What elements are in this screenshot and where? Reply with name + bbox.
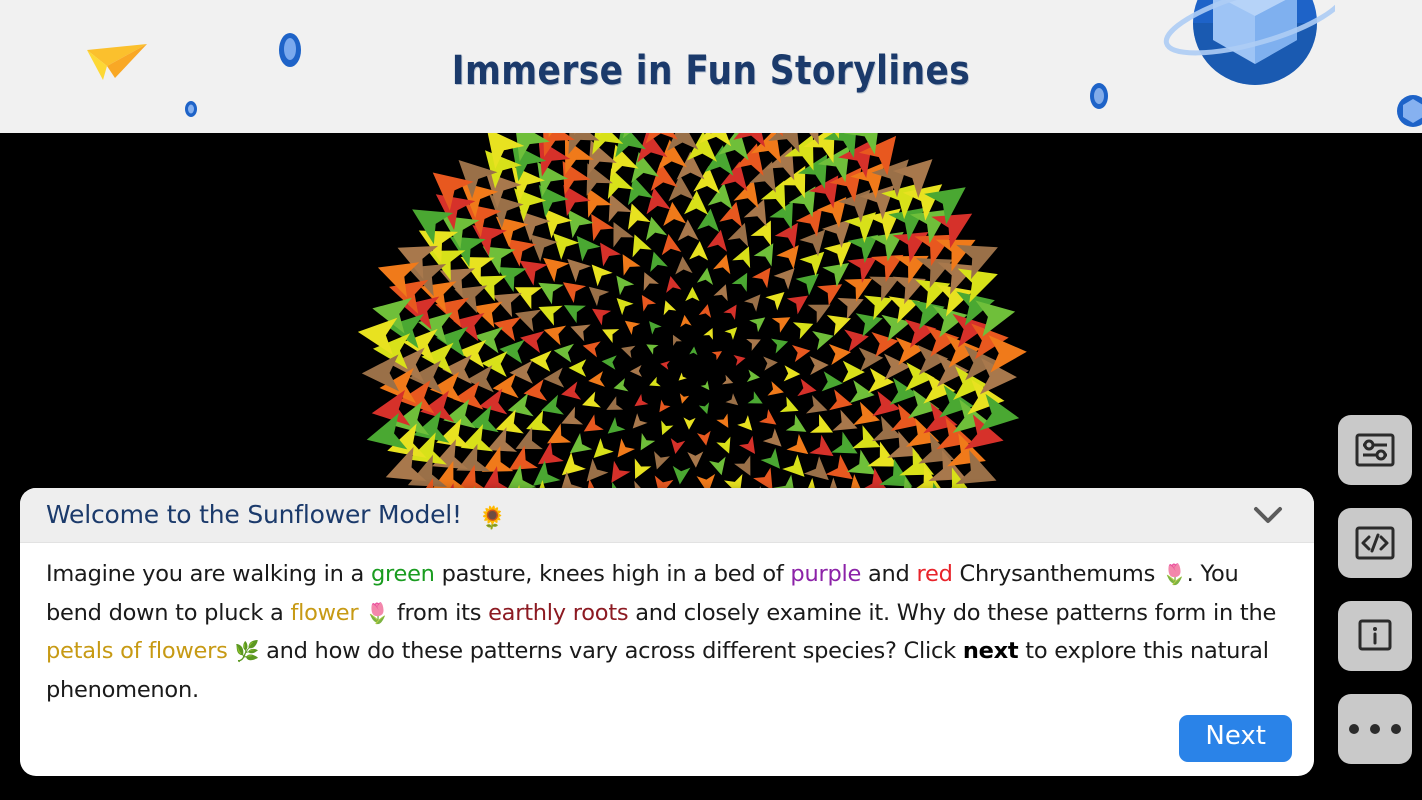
pattern-marker	[509, 276, 542, 309]
pattern-marker	[774, 261, 802, 289]
pattern-marker	[637, 269, 659, 291]
story-segment-1: green	[371, 561, 435, 587]
pattern-marker	[699, 303, 714, 318]
story-segment-13: earthly roots	[488, 600, 628, 626]
pattern-marker	[782, 454, 812, 484]
pattern-marker	[699, 402, 712, 415]
story-segment-2: pasture, knees high in a bed of	[435, 561, 791, 587]
pattern-marker	[560, 251, 591, 282]
story-panel-header: Welcome to the Sunflower Model! 🌻	[20, 488, 1314, 543]
pattern-marker	[767, 381, 785, 399]
pattern-marker	[853, 402, 883, 432]
pattern-marker	[697, 267, 715, 285]
pattern-marker	[763, 355, 778, 370]
pattern-marker	[739, 436, 762, 459]
pattern-marker	[627, 458, 651, 482]
pattern-marker	[716, 437, 736, 457]
pattern-marker	[647, 377, 661, 391]
pattern-marker	[568, 359, 586, 377]
info-icon	[1354, 618, 1396, 654]
pattern-marker	[554, 452, 585, 483]
pattern-marker	[619, 342, 635, 358]
pattern-marker	[655, 400, 671, 416]
pattern-marker	[988, 333, 1028, 373]
pattern-marker	[511, 302, 541, 332]
pattern-marker	[612, 378, 629, 395]
pattern-marker	[683, 417, 696, 430]
pattern-marker	[771, 334, 790, 353]
story-panel-title-text: Welcome to the Sunflower Model!	[46, 500, 462, 529]
pattern-marker	[631, 394, 649, 412]
pattern-marker	[620, 200, 650, 230]
story-segment-0: Imagine you are walking in a	[46, 561, 371, 587]
story-segment-4: and	[861, 561, 916, 587]
pattern-marker	[747, 370, 761, 384]
pattern-marker	[732, 269, 755, 292]
chevron-down-icon	[1252, 505, 1284, 525]
pattern-marker	[761, 448, 788, 475]
pattern-marker	[712, 347, 725, 360]
pattern-marker	[676, 373, 687, 384]
pattern-marker	[724, 323, 741, 340]
pattern-marker	[567, 318, 590, 341]
story-segment-15: petals of flowers	[46, 638, 228, 664]
pattern-marker	[732, 242, 758, 268]
story-segment-6: Chrysanthemums	[953, 561, 1162, 587]
pattern-marker	[713, 252, 735, 274]
pattern-marker	[630, 365, 642, 377]
pattern-marker	[627, 413, 647, 433]
pattern-marker	[579, 414, 604, 439]
pattern-marker	[759, 409, 781, 431]
pattern-marker	[564, 433, 592, 461]
pattern-marker	[579, 391, 601, 413]
pattern-marker	[679, 314, 692, 327]
pattern-marker	[557, 274, 586, 303]
pattern-marker	[587, 302, 611, 326]
pattern-marker	[603, 417, 626, 440]
pattern-marker	[796, 266, 826, 296]
pattern-marker	[752, 262, 778, 288]
pattern-marker	[713, 282, 732, 301]
pattern-marker	[806, 395, 830, 419]
story-panel-title: Welcome to the Sunflower Model! 🌻	[46, 500, 506, 531]
story-panel-body: Imagine you are walking in a green pastu…	[20, 543, 1314, 776]
story-segment-16	[228, 638, 235, 664]
pattern-marker	[793, 315, 817, 339]
pattern-marker	[599, 189, 632, 222]
pattern-marker	[780, 397, 802, 419]
pattern-marker	[765, 285, 790, 310]
story-segment-7: 🌷	[1162, 562, 1187, 586]
pattern-marker	[362, 354, 400, 392]
pattern-marker	[649, 451, 670, 472]
pattern-marker	[697, 431, 713, 447]
pattern-marker	[557, 407, 583, 433]
pattern-marker	[601, 354, 617, 370]
pattern-marker	[603, 396, 623, 416]
pattern-marker	[636, 291, 656, 311]
story-segment-3: purple	[790, 561, 861, 587]
pattern-marker	[810, 356, 829, 375]
pattern-marker	[748, 391, 766, 409]
pattern-marker	[659, 298, 676, 315]
pattern-marker	[864, 286, 898, 320]
settings-sliders-icon	[1354, 432, 1396, 468]
tool-rail	[1338, 415, 1412, 764]
pattern-marker	[669, 333, 682, 346]
pattern-marker	[659, 359, 669, 369]
page-title: Immerse in Fun Storylines	[100, 48, 1323, 94]
pattern-marker	[644, 317, 661, 334]
pattern-marker	[733, 353, 746, 366]
pattern-marker	[744, 289, 766, 311]
pattern-marker	[677, 393, 689, 405]
pattern-marker	[881, 309, 914, 342]
pattern-marker	[587, 438, 614, 465]
story-segment-12: from its	[390, 600, 488, 626]
pattern-marker	[609, 270, 634, 295]
more-options-button[interactable]	[1338, 694, 1412, 764]
pattern-marker	[621, 315, 641, 335]
pattern-marker	[716, 414, 734, 432]
pattern-marker	[587, 371, 605, 389]
pattern-marker	[603, 461, 630, 488]
story-segment-18: and how do these patterns vary across di…	[259, 638, 963, 664]
gem-chip-icon	[183, 100, 199, 118]
story-segment-5: red	[916, 561, 952, 587]
pattern-marker	[689, 240, 709, 260]
pattern-marker	[677, 219, 699, 241]
pattern-marker	[663, 274, 682, 293]
pattern-marker	[734, 456, 758, 480]
pattern-marker	[476, 389, 507, 420]
story-segment-11: 🌷	[365, 601, 390, 625]
pattern-marker	[634, 433, 655, 454]
pattern-marker	[599, 323, 619, 343]
pattern-marker	[583, 280, 610, 307]
pattern-marker	[722, 375, 735, 388]
app-root: Immerse in Fun Storylines	[0, 0, 1422, 800]
pattern-marker	[671, 466, 690, 485]
code-button[interactable]	[1338, 508, 1412, 578]
pattern-marker	[797, 378, 818, 399]
pattern-marker	[725, 393, 741, 409]
pattern-marker	[709, 457, 730, 478]
pattern-marker	[611, 438, 635, 462]
pattern-marker	[659, 232, 682, 255]
pattern-marker	[687, 451, 704, 468]
story-panel: Welcome to the Sunflower Model! 🌻 Imagin…	[20, 488, 1314, 776]
pattern-marker	[850, 380, 877, 407]
pattern-marker	[579, 459, 609, 489]
pattern-marker	[856, 306, 886, 336]
pattern-marker	[749, 312, 770, 333]
more-options-icon	[1349, 724, 1401, 734]
pattern-marker	[529, 349, 552, 372]
pattern-marker	[784, 365, 801, 382]
code-icon	[1354, 525, 1396, 561]
pattern-marker	[772, 310, 795, 333]
pattern-marker	[754, 238, 783, 267]
pattern-marker	[644, 340, 659, 355]
story-paragraph: Imagine you are walking in a green pastu…	[46, 555, 1288, 709]
story-segment-9: flower	[290, 600, 358, 626]
pattern-marker	[611, 292, 634, 315]
story-segment-14: and closely examine it. Why do these pat…	[628, 600, 1276, 626]
pattern-marker	[543, 368, 564, 389]
pattern-marker	[723, 301, 742, 320]
pattern-marker	[728, 219, 755, 246]
pattern-marker	[746, 333, 763, 350]
pattern-marker	[822, 371, 844, 393]
pattern-marker	[810, 414, 838, 442]
pattern-marker	[689, 346, 698, 355]
pattern-marker	[668, 438, 685, 455]
pattern-marker	[518, 327, 544, 353]
sunflower-emoji: 🌻	[479, 506, 506, 531]
pattern-marker	[584, 258, 613, 287]
pattern-marker	[642, 185, 671, 214]
pattern-marker	[656, 420, 673, 437]
pattern-marker	[842, 361, 865, 384]
gem-chip-icon	[1396, 92, 1422, 130]
pattern-marker	[701, 381, 713, 393]
story-segment-17: 🌿	[235, 639, 260, 663]
info-button[interactable]	[1338, 601, 1412, 671]
pattern-marker	[552, 341, 574, 363]
story-segment-19: next	[963, 638, 1019, 664]
pattern-marker	[786, 434, 814, 462]
pattern-marker	[737, 415, 757, 435]
header-banner: Immerse in Fun Storylines	[0, 0, 1422, 133]
settings-sliders-button[interactable]	[1338, 415, 1412, 485]
pattern-marker	[829, 342, 852, 365]
story-panel-footer: Next	[1179, 715, 1292, 762]
next-button[interactable]: Next	[1179, 715, 1292, 762]
pattern-marker	[492, 409, 524, 441]
pattern-marker	[697, 207, 722, 232]
collapse-panel-button[interactable]	[1248, 498, 1288, 532]
pattern-marker	[703, 326, 717, 340]
pattern-marker	[792, 342, 812, 362]
pattern-marker	[685, 287, 699, 301]
